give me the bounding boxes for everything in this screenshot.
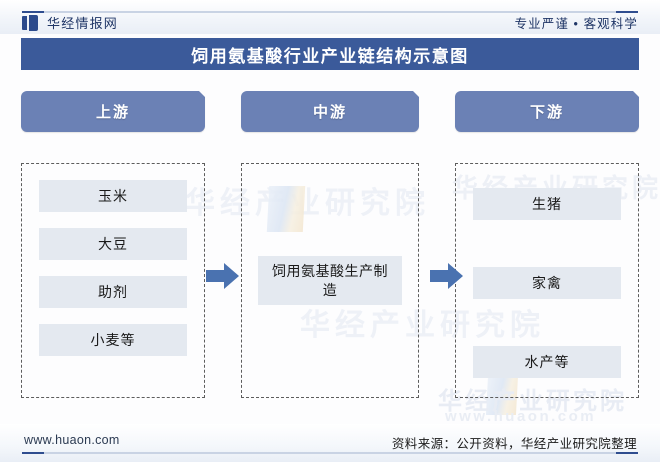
book-flag-icon bbox=[22, 15, 39, 31]
list-item: 助剂 bbox=[39, 276, 187, 308]
infographic-page: 华经产业研究院 华经产业研究院 华经产业研究院 华经产业研究院 www.huao… bbox=[0, 0, 660, 462]
list-item: 水产等 bbox=[473, 346, 621, 378]
brand-logo-text: 华经情报网 bbox=[47, 13, 118, 32]
upstream-item-list: 玉米 大豆 助剂 小麦等 bbox=[22, 164, 204, 397]
watermark-url: www.huaon.com bbox=[445, 408, 596, 425]
midstream-item-list: 饲用氨基酸生产制造 bbox=[242, 164, 418, 397]
downstream-item-list: 生猪 家禽 水产等 bbox=[456, 164, 638, 397]
stage-header-upstream-label: 上游 bbox=[96, 101, 130, 122]
panel-upstream: 玉米 大豆 助剂 小麦等 bbox=[21, 163, 205, 398]
footer-source-note: 资料来源：公开资料，华经产业研究院整理 bbox=[392, 433, 637, 452]
arrow-right-icon bbox=[430, 262, 463, 290]
stage-header-upstream: 上游 bbox=[21, 91, 205, 132]
list-item: 小麦等 bbox=[39, 324, 187, 356]
panel-midstream: 饲用氨基酸生产制造 bbox=[241, 163, 419, 398]
stage-header-midstream-label: 中游 bbox=[313, 101, 347, 122]
footer-site-url[interactable]: www.huaon.com bbox=[24, 433, 120, 447]
panel-downstream: 生猪 家禽 水产等 bbox=[455, 163, 639, 398]
list-item: 饲用氨基酸生产制造 bbox=[258, 256, 402, 306]
arrow-right-icon bbox=[206, 262, 239, 290]
stage-header-midstream: 中游 bbox=[241, 91, 419, 132]
stage-header-downstream-label: 下游 bbox=[530, 101, 564, 122]
page-title: 饲用氨基酸行业产业链结构示意图 bbox=[191, 42, 469, 67]
footer-divider bbox=[22, 452, 638, 454]
brand-logo[interactable]: 华经情报网 bbox=[22, 13, 118, 32]
page-header: 华经情报网 专业严谨 • 客观科学 bbox=[0, 0, 660, 34]
list-item: 玉米 bbox=[39, 180, 187, 212]
chart-title-bar: 饲用氨基酸行业产业链结构示意图 bbox=[21, 38, 639, 70]
brand-slogan: 专业严谨 • 客观科学 bbox=[515, 13, 638, 32]
list-item: 生猪 bbox=[473, 188, 621, 220]
list-item: 家禽 bbox=[473, 267, 621, 299]
list-item: 大豆 bbox=[39, 228, 187, 260]
stage-header-downstream: 下游 bbox=[455, 91, 639, 132]
